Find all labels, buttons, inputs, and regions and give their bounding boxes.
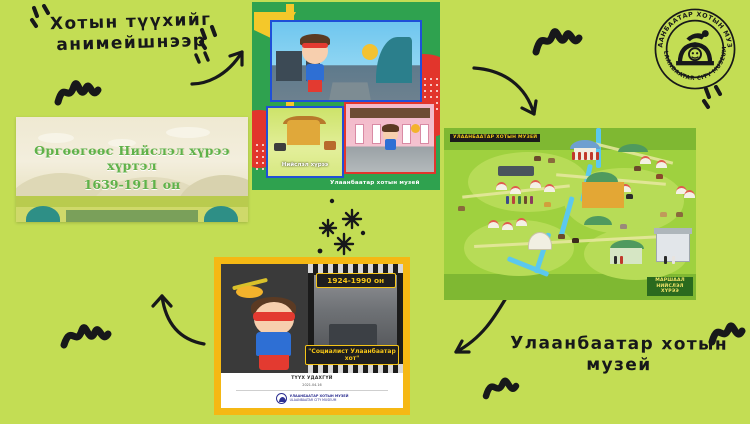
map-hill: [544, 280, 566, 293]
map-ger: [502, 222, 513, 230]
svg-text:УЛААНБААТАР ХОТЫН МУЗЕЙ: УЛААНБААТАР ХОТЫН МУЗЕЙ: [652, 6, 733, 48]
map-person: [578, 152, 581, 160]
map-person: [584, 152, 587, 160]
collage-photo-museum: [344, 102, 436, 174]
map-animal: [572, 238, 579, 243]
map-person: [590, 152, 593, 160]
temple-body-shape: [287, 120, 320, 144]
character-hair: [382, 124, 399, 132]
slide-title-line1: Өргөөгөөс Нийслэл хүрээ хүртэл: [16, 143, 248, 173]
map-ger: [684, 190, 695, 198]
stage-panel: [66, 210, 198, 222]
footer-org-en: ULAANBAATAR CITY MUSEUM: [290, 398, 349, 402]
museum-mark-icon: [276, 393, 287, 404]
collage-photo-city: [270, 20, 422, 102]
map-hill: [670, 136, 692, 149]
collage-thumbnail-animation[interactable]: Нийслэл хүрээ Улаанбаатар хотын музей: [252, 2, 440, 190]
map-person: [620, 256, 623, 264]
boy-legs: [259, 355, 289, 370]
map-animal: [660, 212, 667, 217]
map-person: [596, 152, 599, 160]
map-animal: [620, 224, 627, 229]
window-shape: [355, 124, 364, 144]
map-animal: [534, 156, 541, 161]
slide-title-line2: 1639-1911 он: [16, 177, 248, 192]
map-animal: [626, 194, 633, 199]
map-ger: [496, 182, 507, 190]
animal-shape: [324, 141, 336, 150]
collage-caption: Улаанбаатар хотын музей: [330, 180, 436, 186]
map-person: [672, 256, 675, 264]
map-label-top-left: УЛААНБААТАР ХОТЫН МУЗЕЙ: [450, 134, 540, 142]
map-person: [530, 196, 533, 204]
character-goggles: [302, 43, 328, 48]
cloud-shape: [166, 127, 210, 138]
cloud-shape: [38, 133, 74, 143]
slide-title-block: Өргөөгөөс Нийслэл хүрээ хүртэл 1639-1911…: [16, 143, 248, 192]
video-card-footer: ТҮҮХ УДАХГҮЙ 2021.04.16 УЛААНБААТАР ХОТЫ…: [221, 373, 403, 408]
map-person: [524, 196, 527, 204]
map-hill: [448, 278, 470, 291]
arrow-center-right-icon: [468, 56, 550, 126]
collage-photo-niislel-khuree: Нийслэл хүрээ: [266, 106, 344, 178]
blue-sky-tower-shape: [376, 37, 412, 83]
window-shape: [372, 124, 381, 144]
seal-text-top: УЛААНБААТАР ХОТЫН МУЗЕЙ: [652, 6, 733, 48]
video-thumbnail-socialist-ub[interactable]: 1924-1990 он "Социалист Улаанбаатар хот"…: [214, 257, 410, 415]
museum-seal-logo: УЛААНБААТАР ХОТЫН МУЗЕЙ ULAANBAATAR CITY…: [652, 6, 738, 92]
arrow-bottom-left-icon: [140, 282, 210, 350]
map-animal: [656, 174, 663, 179]
map-animal: [548, 158, 555, 163]
map-hill: [580, 278, 602, 291]
map-person: [506, 196, 509, 204]
museum-roof-shape: [350, 108, 431, 118]
building-shape: [276, 51, 302, 81]
map-person: [512, 196, 515, 204]
animal-shape: [274, 143, 286, 151]
character-body: [385, 139, 396, 150]
squiggle-top-right-icon: [530, 18, 598, 62]
page-title-museum: Улаанбаатар хотын музей: [498, 333, 740, 376]
window-shape: [402, 124, 411, 144]
map-person: [614, 256, 617, 264]
video-card-inner: 1924-1990 он "Социалист Улаанбаатар хот"…: [221, 264, 403, 408]
squiggle-bottom-left-icon: [58, 315, 124, 357]
video-scene: 1924-1990 он "Социалист Улаанбаатар хот": [221, 264, 403, 373]
tick-marks-right-of-title-icon: [192, 50, 218, 74]
boy-character: [243, 288, 305, 373]
map-person: [572, 152, 575, 160]
map-hill: [480, 280, 502, 293]
map-building-roof: [654, 228, 692, 234]
map-field: [464, 220, 574, 276]
map-animal: [676, 212, 683, 217]
map-label-bottom-right: МАРШААЛ НИЙСЛЭЛ ХҮРЭЭ: [647, 277, 693, 296]
footer-logo-row: УЛААНБААТАР ХОТЫН МУЗЕЙ ULAANBAATAR CITY…: [221, 393, 403, 404]
sun-shape: [362, 44, 378, 60]
map-animal: [458, 206, 465, 211]
drone-shape: [411, 124, 420, 133]
year-badge: 1924-1990 он: [316, 273, 396, 288]
footer-date: 2021.04.16: [221, 383, 403, 387]
map-hill: [642, 132, 664, 145]
squiggle-top-left-icon: [52, 72, 116, 112]
boy-body: [256, 332, 291, 356]
collage-photo2-caption: Нийслэл хүрээ: [268, 162, 342, 168]
map-ger: [510, 186, 521, 194]
page-title-animation: Хотын түүхийг анимейшнээр: [25, 9, 236, 56]
map-animal: [558, 234, 565, 239]
map-thumbnail-niislel-khuree[interactable]: УЛААНБААТАР ХОТЫН МУЗЕЙ МАРШААЛ НИЙСЛЭЛ …: [444, 128, 696, 300]
map-temple: [582, 182, 624, 208]
map-animal: [544, 202, 551, 207]
map-person: [518, 196, 521, 204]
subtitle-badge: "Социалист Улаанбаатар хот": [305, 345, 400, 365]
map-ger: [640, 156, 651, 164]
map-ger: [656, 160, 667, 168]
map-ger: [544, 184, 555, 192]
footer-title: ТҮҮХ УДАХГҮЙ: [221, 376, 403, 381]
map-ger: [530, 180, 541, 188]
map-ger: [488, 220, 499, 228]
window-shape: [420, 124, 429, 144]
footer-org-names: УЛААНБААТАР ХОТЫН МУЗЕЙ ULAANBAATAR CITY…: [290, 394, 349, 403]
truck-shape: [329, 324, 377, 347]
film-perforations-top: [308, 264, 403, 273]
map-ger: [516, 218, 527, 226]
footer-divider: [236, 390, 389, 391]
character-legs: [308, 80, 322, 92]
poster-canvas: Хотын түүхийг анимейшнээр Улаанбаатар хо…: [0, 0, 750, 424]
film-perforations-bottom: [308, 364, 403, 373]
boy-goggles: [253, 312, 295, 321]
sparkle-cluster-icon: [302, 196, 402, 264]
road-shape: [329, 83, 371, 100]
slide-thumbnail-orgoo[interactable]: Өргөөгөөс Нийслэл хүрээ хүртэл 1639-1911…: [16, 117, 248, 222]
map-artillery: [498, 166, 534, 176]
map-animal: [634, 166, 641, 171]
map-person: [664, 256, 667, 264]
